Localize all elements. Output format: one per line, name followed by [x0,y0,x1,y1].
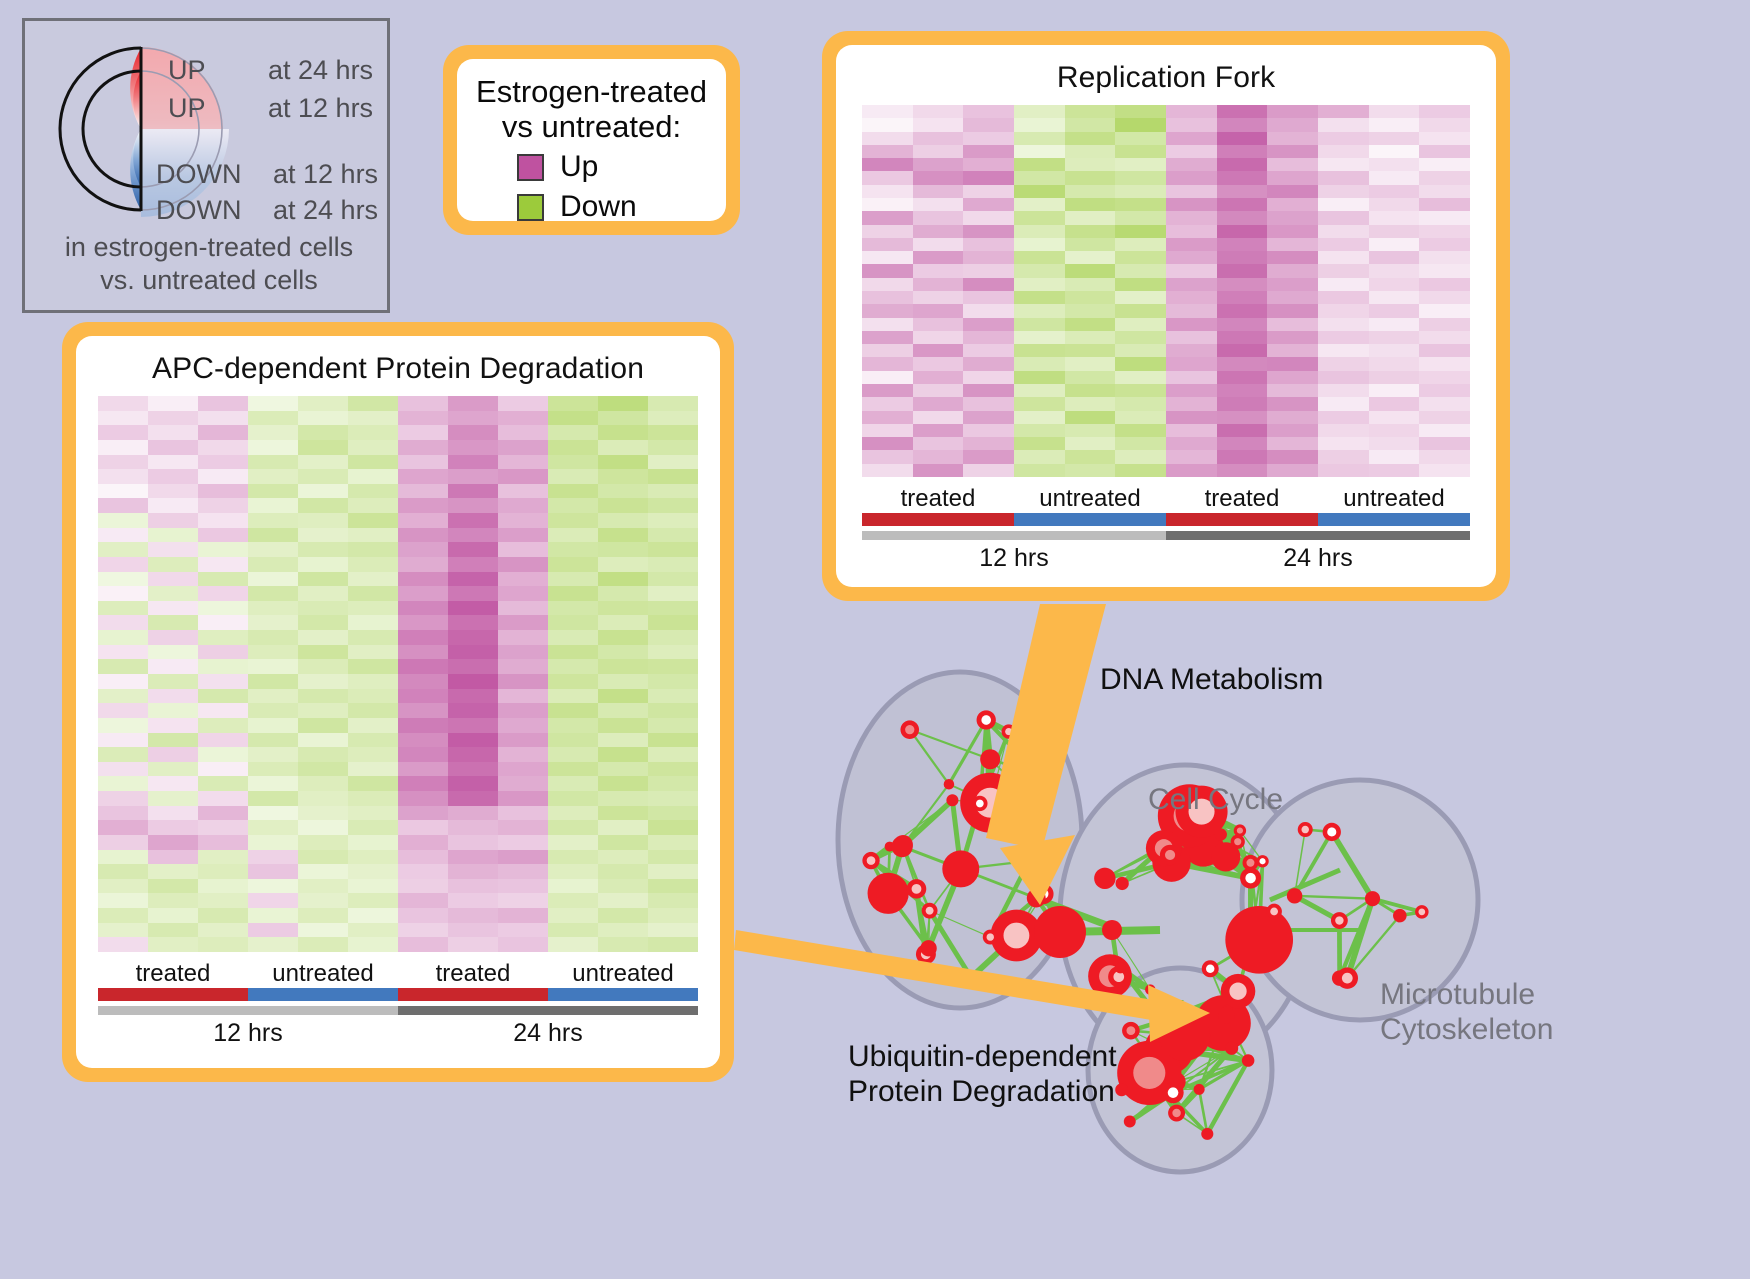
heatmap-cell [248,864,298,879]
network-node[interactable] [1021,853,1037,869]
heatmap-cell [348,747,398,762]
node-outer-ring [1194,1084,1205,1095]
heatmap-cell [448,498,498,513]
heatmap-cell [648,396,698,411]
network-node[interactable] [1162,1082,1183,1103]
heatmap-cell [498,513,548,528]
heatmap-cell [648,864,698,879]
heatmap-cell [598,893,648,908]
heatmap-replication-fork-time-bar [862,531,1470,540]
heatmap-cell [448,645,498,660]
heatmap-cell [1419,371,1470,384]
cluster-label-ubiquitin-line1: Ubiquitin-dependent [848,1040,1117,1075]
heatmap-cell [648,425,698,440]
heatmap-cell [398,806,448,821]
node-outer-ring [920,940,936,956]
heatmap-cell [1115,397,1166,410]
heatmap-cell [1267,158,1318,171]
heatmap-cell [1115,437,1166,450]
heatmap-cell [648,674,698,689]
network-node[interactable] [1256,855,1268,867]
heatmap-cell [298,572,348,587]
node-outer-ring [1211,842,1240,871]
heatmap-cell [448,762,498,777]
node-inner-fill [1301,826,1309,834]
heatmap-cell [398,645,448,660]
network-node[interactable] [1034,906,1086,958]
heatmap-cell [248,557,298,572]
heatmap-cell [648,733,698,748]
heatmap-cell [1014,384,1065,397]
heatmap-cell [148,791,198,806]
heatmap-cell [548,850,598,865]
network-node[interactable] [1102,920,1122,940]
swatch-down-icon [517,194,544,221]
heatmap-cell [1217,331,1268,344]
heatmap-cell [1318,185,1369,198]
network-node[interactable] [862,852,879,869]
heatmap-cell [963,105,1014,118]
heatmap-cell [198,762,248,777]
heatmap-cell [1166,424,1217,437]
heatmap-cell [648,542,698,557]
heatmap-cell [148,923,198,938]
heatmap-cell [398,703,448,718]
heatmap-cell [1166,145,1217,158]
heatmap-cell [1318,225,1369,238]
heatmap-cell [1217,264,1268,277]
heatmap-cell [198,689,248,704]
heatmap-cell [1369,198,1420,211]
heatmap-cell [198,455,248,470]
network-node[interactable] [907,879,927,899]
heatmap-cell [963,132,1014,145]
network-node[interactable] [1323,823,1341,841]
heatmap-cell [1369,171,1420,184]
heatmap-cell [648,557,698,572]
network-node[interactable] [891,836,912,857]
heatmap-cell [248,703,298,718]
network-node[interactable] [1393,909,1407,923]
network-node[interactable] [1365,891,1380,906]
heatmap-cell [348,835,398,850]
heatmap-cell [198,937,248,952]
heatmap-cell [1115,118,1166,131]
heatmap-cell [398,923,448,938]
heatmap-cell [1014,291,1065,304]
network-node[interactable] [1115,962,1126,973]
heatmap-cell [1014,264,1065,277]
heatmap-cell [1267,384,1318,397]
heatmap-cell [498,484,548,499]
heatmap-cell [348,572,398,587]
heatmap-cell [448,689,498,704]
panel-apc-degradation: APC-dependent Protein Degradation treate… [62,322,734,1082]
network-node[interactable] [1202,960,1219,977]
node-inner-fill [1206,964,1214,972]
network-node[interactable] [1116,877,1129,890]
heatmap-cell [298,733,348,748]
condition-color-segment [1014,513,1166,526]
heatmap-cell [1419,105,1470,118]
heatmap-cell [198,703,248,718]
heatmap-cell [1318,437,1369,450]
heatmap-cell [862,411,913,424]
heatmap-cell [1014,238,1065,251]
heatmap-cell [963,357,1014,370]
heatmap-cell [398,762,448,777]
heatmap-cell [598,733,648,748]
network-node[interactable] [1225,1042,1238,1055]
panel-apc-degradation-title: APC-dependent Protein Degradation [98,352,698,386]
heatmap-cell [298,455,348,470]
heatmap-cell [1217,132,1268,145]
timepoint-color-segment [398,1006,698,1015]
node-outer-ring [964,971,977,984]
heatmap-replication-fork-condition-bar [862,513,1470,526]
heatmap-cell [298,542,348,557]
heatmap-cell [598,850,648,865]
heatmap-cell [348,674,398,689]
network-node[interactable] [922,903,938,919]
heatmap-cell [98,937,148,952]
network-node[interactable] [1266,904,1282,920]
node-outer-ring [1225,906,1293,974]
heatmap-cell [1419,211,1470,224]
heatmap-cell [198,864,248,879]
heatmap-cell [1166,211,1217,224]
heatmap-cell [498,864,548,879]
heatmap-cell [1065,424,1116,437]
heatmap-cell [598,425,648,440]
heatmap-cell [1369,225,1420,238]
heatmap-cell [498,498,548,513]
heatmap-cell [1318,105,1369,118]
heatmap-cell [448,440,498,455]
heatmap-cell [448,513,498,528]
heatmap-cell [498,615,548,630]
heatmap-cell [1369,278,1420,291]
heatmap-cell [148,645,198,660]
heatmap-cell [148,396,198,411]
heatmap-cell [448,893,498,908]
panel-replication-fork-title: Replication Fork [862,61,1470,95]
heatmap-cell [1267,251,1318,264]
heatmap-cell [1267,198,1318,211]
node-inner-fill [987,933,994,940]
heatmap-cell [298,586,348,601]
heatmap-cell [1065,251,1116,264]
heatmap-cell [648,820,698,835]
heatmap-cell [1369,251,1420,264]
network-node[interactable] [942,850,979,887]
heatmap-cell [862,158,913,171]
heatmap-cell [498,411,548,426]
heatmap-cell [1318,450,1369,463]
heatmap-cell [1267,304,1318,317]
heatmap-cell [598,615,648,630]
heatmap-cell [1166,171,1217,184]
node-outer-ring [942,850,979,887]
heatmap-cell [598,791,648,806]
node-outer-ring [1116,877,1129,890]
heatmap-cell [298,806,348,821]
heatmap-cell [1267,238,1318,251]
heatmap-cell [1065,291,1116,304]
network-node[interactable] [1168,1105,1185,1122]
heatmap-cell [1065,105,1116,118]
heatmap-cell [1267,185,1318,198]
heatmap-cell [498,908,548,923]
heatmap-cell [963,344,1014,357]
heatmap-cell [862,198,913,211]
network-node[interactable] [1240,868,1261,889]
heatmap-cell [548,864,598,879]
network-node[interactable] [1002,724,1016,738]
network-node[interactable] [1122,1022,1140,1040]
node-outer-ring [1102,920,1122,940]
heatmap-cell [598,718,648,733]
heatmap-cell [1217,118,1268,131]
heatmap-cell [298,411,348,426]
heatmap-cell [448,528,498,543]
heatmap-cell [98,776,148,791]
network-node[interactable] [1160,845,1180,865]
timepoint-label: 12 hrs [98,1019,398,1048]
heatmap-cell [1318,291,1369,304]
heatmap-cell [1318,464,1369,477]
heatmap-cell [598,762,648,777]
node-outer-ring [1159,1010,1210,1061]
heatmap-cell [148,498,198,513]
network-node[interactable] [946,794,958,806]
heatmap-cell [98,396,148,411]
network-node[interactable] [1211,842,1240,871]
heatmap-cell [648,440,698,455]
heatmap-cell [1267,145,1318,158]
heatmap-cell [148,806,198,821]
heatmap-cell [148,411,198,426]
heatmap-cell [963,424,1014,437]
heatmap-cell [148,937,198,952]
heatmap-cell [448,469,498,484]
network-node[interactable] [964,971,977,984]
network-node[interactable] [980,749,1000,769]
network-node[interactable] [900,720,919,739]
heatmap-cell [1166,264,1217,277]
heatmap-cell [1014,318,1065,331]
heatmap-cell [862,371,913,384]
heatmap-cell [198,425,248,440]
node-outer-ring [1115,962,1126,973]
network-node[interactable] [1221,974,1256,1009]
heatmap-cell [1166,118,1217,131]
heatmap-cell [198,659,248,674]
network-node[interactable] [1298,822,1313,837]
heatmap-cell [1419,450,1470,463]
heatmap-cell [862,331,913,344]
heatmap-cell [548,542,598,557]
heatmap-cell [1115,357,1166,370]
network-node[interactable] [1225,906,1293,974]
heatmap-cell [98,513,148,528]
heatmap-cell [298,835,348,850]
heatmap-cell [913,318,964,331]
network-node[interactable] [920,940,936,956]
heatmap-cell [498,674,548,689]
heatmap-cell [1369,424,1420,437]
heatmap-cell [148,864,198,879]
heatmap-cell [148,674,198,689]
timepoint-color-segment [98,1006,398,1015]
wheel-label-down-12: DOWN [156,159,241,190]
node-inner-fill [1245,873,1256,884]
heatmap-cell [448,615,498,630]
heatmap-cell [598,440,648,455]
key-label-down: Down [560,190,637,224]
node-outer-ring [868,873,909,914]
heatmap-cell [348,689,398,704]
heatmap-apc-condition-labels: treateduntreatedtreateduntreated [98,960,698,988]
network-node[interactable] [1033,801,1047,815]
network-node[interactable] [1242,1054,1255,1067]
heatmap-cell [913,171,964,184]
heatmap-cell [1217,211,1268,224]
heatmap-cell [1419,145,1470,158]
heatmap-cell [1115,384,1166,397]
network-node[interactable] [1115,1083,1128,1096]
heatmap-cell [1267,278,1318,291]
heatmap-cell [1065,450,1116,463]
heatmap-cell [398,937,448,952]
heatmap-cell [248,733,298,748]
heatmap-cell [498,718,548,733]
heatmap-cell [98,791,148,806]
network-node[interactable] [1287,888,1302,903]
network-node[interactable] [1124,1116,1136,1128]
heatmap-cell [148,879,198,894]
colorwheel-footnote: in estrogen-treated cells vs. untreated … [25,231,393,297]
heatmap-cell [1014,397,1065,410]
heatmap-cell [1065,304,1116,317]
heatmap-cell [248,908,298,923]
heatmap-cell [198,615,248,630]
network-node[interactable] [1145,984,1155,994]
network-node[interactable] [972,796,987,811]
heatmap-cell [448,733,498,748]
heatmap-cell [598,469,648,484]
heatmap-cell [198,747,248,762]
heatmap-cell [1267,331,1318,344]
heatmap-cell [913,450,964,463]
network-node[interactable] [1331,912,1348,929]
heatmap-cell [1065,397,1116,410]
network-node[interactable] [1094,868,1115,889]
network-node[interactable] [1151,997,1170,1016]
heatmap-cell [148,484,198,499]
node-inner-fill [926,907,934,915]
heatmap-cell [1419,238,1470,251]
heatmap-cell [963,397,1014,410]
heatmap-cell [448,411,498,426]
heatmap-cell [598,528,648,543]
heatmap-cell [1217,198,1268,211]
heatmap-cell [1419,318,1470,331]
heatmap-cell [548,923,598,938]
heatmap-cell [248,469,298,484]
heatmap-cell [1166,411,1217,424]
network-node[interactable] [1159,1010,1210,1061]
key-entry-down: Down [517,190,712,224]
network-node[interactable] [1028,764,1049,785]
heatmap-cell [298,791,348,806]
heatmap-cell [1065,171,1116,184]
heatmap-cell [913,211,964,224]
updown-key-title-line2: vs untreated: [471,110,712,145]
heatmap-cell [648,776,698,791]
network-node[interactable] [1218,1007,1235,1024]
heatmap-cell [248,923,298,938]
node-inner-fill [1229,983,1246,1000]
heatmap-cell [398,733,448,748]
network-node[interactable] [983,930,998,945]
network-node[interactable] [868,873,909,914]
heatmap-cell [1166,331,1217,344]
heatmap-cell [1318,331,1369,344]
heatmap-cell [498,659,548,674]
heatmap-cell [648,791,698,806]
heatmap-cell [1014,411,1065,424]
heatmap-cell [448,484,498,499]
network-node[interactable] [944,779,955,790]
network-node[interactable] [1337,967,1358,988]
heatmap-cell [498,733,548,748]
heatmap-cell [98,747,148,762]
heatmap-cell [1217,411,1268,424]
heatmap-cell [1014,158,1065,171]
heatmap-cell [198,498,248,513]
heatmap-cell [1369,118,1420,131]
heatmap-cell [198,879,248,894]
heatmap-apc-degradation [98,396,698,952]
heatmap-cell [648,806,698,821]
heatmap-cell [1318,411,1369,424]
heatmap-cell [298,615,348,630]
heatmap-cell [98,835,148,850]
heatmap-cell [1166,357,1217,370]
heatmap-cell [1115,464,1166,477]
network-node[interactable] [1201,1128,1213,1140]
heatmap-cell [1369,384,1420,397]
heatmap-cell [648,528,698,543]
network-node[interactable] [1027,889,1046,908]
heatmap-cell [1166,132,1217,145]
node-outer-ring [1393,909,1407,923]
heatmap-cell [248,440,298,455]
heatmap-cell [348,411,398,426]
heatmap-cell [862,291,913,304]
network-node[interactable] [1415,905,1429,919]
network-node[interactable] [1194,1084,1205,1095]
heatmap-cell [1217,437,1268,450]
node-inner-fill [1005,728,1012,735]
network-node[interactable] [977,710,996,729]
heatmap-cell [398,455,448,470]
heatmap-cell [498,572,548,587]
heatmap-cell [498,455,548,470]
network-node[interactable] [960,773,1020,833]
heatmap-cell [1166,291,1217,304]
